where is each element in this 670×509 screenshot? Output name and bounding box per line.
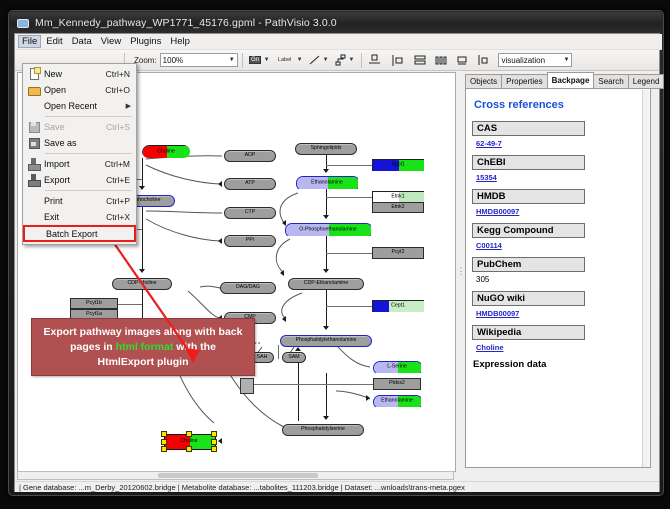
edge-etnk xyxy=(326,197,372,198)
menu-item-exit-label: Exit xyxy=(44,212,106,222)
node-fill-bar xyxy=(142,145,190,158)
node-fill-bar-etnk1 xyxy=(372,191,424,202)
export-icon xyxy=(23,172,44,188)
chevron-down-icon-line[interactable]: ▼ xyxy=(323,57,329,63)
chevron-down-icon-visualization: ▼ xyxy=(564,57,570,63)
stack-button[interactable] xyxy=(413,53,428,68)
node-fill-bar-sgpl1 xyxy=(372,159,424,171)
chevron-down-icon-connector[interactable]: ▼ xyxy=(349,57,355,63)
node-adp[interactable]: ADP xyxy=(224,150,276,162)
menu-item-export-accel: Ctrl+E xyxy=(106,175,130,185)
arrowhead-icon-4 xyxy=(323,169,329,173)
menu-view[interactable]: View xyxy=(97,35,125,48)
arrowhead-icon-choline2 xyxy=(218,438,222,444)
menu-item-save-label: Save xyxy=(44,122,106,132)
node-fill-bar-ope xyxy=(285,223,371,236)
node-gene-pcyt1b[interactable]: Pcyt1b xyxy=(70,298,118,309)
line-tool-icon xyxy=(308,54,321,67)
zoom-label: Zoom: xyxy=(134,56,157,65)
visualization-value: visualization xyxy=(501,56,545,65)
menu-item-new-label: New xyxy=(44,69,106,79)
menu-item-exit[interactable]: Exit Ctrl+X xyxy=(23,209,136,225)
menu-gutter-blank xyxy=(23,98,44,114)
label-tool-label: Label xyxy=(278,57,291,63)
node-phosphatidylserine[interactable]: Phosphatidylserine xyxy=(282,424,364,436)
distribute-button[interactable] xyxy=(434,53,449,68)
node-fill-bar-ser xyxy=(373,361,421,373)
node-gene-etnk1[interactable]: Etnk1 xyxy=(372,191,424,202)
visualization-combobox[interactable]: visualization ▼ xyxy=(498,53,572,67)
menu-item-print[interactable]: Print Ctrl+P xyxy=(23,193,136,209)
menu-separator-3 xyxy=(45,190,132,191)
xref-value-nugo[interactable]: HMDB00097 xyxy=(476,309,644,318)
node-ethanolamine-2[interactable]: Ethanolamine xyxy=(373,395,421,407)
node-sam[interactable]: SAM xyxy=(282,352,306,363)
status-text: | Gene database: ...m_Derby_20120602.bri… xyxy=(19,483,465,492)
open-folder-icon xyxy=(23,82,44,98)
menu-gutter-blank-4 xyxy=(25,226,46,242)
align-left-button[interactable] xyxy=(390,53,405,68)
node-reaction-anchor[interactable] xyxy=(240,378,254,394)
callout-line2-a: pages in xyxy=(70,341,116,353)
align-left-icon xyxy=(391,54,404,67)
edge-ptdss2 xyxy=(250,384,373,385)
edge-pcyt2 xyxy=(326,253,372,254)
xref-header-kegg: Kegg Compound xyxy=(472,223,585,238)
node-choline-selected[interactable]: Choline xyxy=(164,434,214,448)
side-panel-tabs[interactable]: Objects Properties Backpage Search Legen… xyxy=(465,74,657,89)
xref-header-chebi: ChEBI xyxy=(472,155,585,170)
toolbar-separator-3 xyxy=(361,53,362,68)
annotation-callout: Export pathway images along with back pa… xyxy=(31,318,255,376)
node-cdp-choline[interactable]: CDP-choline xyxy=(112,278,172,290)
menu-item-batch-export[interactable]: Batch Export xyxy=(23,225,136,242)
node-gene-sgpl1[interactable]: Sgpl1 xyxy=(372,159,424,171)
distribute-icon xyxy=(435,54,448,67)
pathvisio-icon xyxy=(16,16,29,29)
shape-tool-button[interactable]: Gn xyxy=(248,53,263,68)
callout-highlight: html format xyxy=(116,341,174,353)
import-icon xyxy=(23,156,44,172)
menu-item-open-label: Open xyxy=(44,85,105,95)
cross-references-title: Cross references xyxy=(474,99,644,111)
menu-item-export[interactable]: Export Ctrl+E xyxy=(23,172,136,188)
application-window: Mm_Kennedy_pathway_WP1771_45176.gpml - P… xyxy=(8,10,664,496)
line-tool-button[interactable] xyxy=(307,53,322,68)
node-choline-top[interactable]: Choline xyxy=(142,145,190,158)
menu-item-import[interactable]: Import Ctrl+M xyxy=(23,156,136,172)
backpage-scrollbar[interactable] xyxy=(642,90,649,468)
edge-eth-to-ope xyxy=(326,189,327,217)
node-ethanolamine[interactable]: Ethanolamine xyxy=(296,176,358,189)
xref-header-wikipedia: Wikipedia xyxy=(472,325,585,340)
label-tool-button[interactable]: Label xyxy=(274,53,296,68)
tab-legend[interactable]: Legend xyxy=(628,74,665,89)
arrowhead-icon-8 xyxy=(323,416,329,420)
node-gene-etnk2[interactable]: Etnk2 xyxy=(372,202,424,213)
xref-header-cas: CAS xyxy=(472,121,585,136)
edge-choline-to-phosphocholine xyxy=(142,158,143,188)
xref-value-pubchem: 305 xyxy=(476,275,644,284)
callout-line1: Export pathway images along with back xyxy=(44,326,243,338)
backpage-content: Cross references CAS 62-49-7 ChEBI 15354… xyxy=(465,88,651,468)
menu-item-open-accel: Ctrl+O xyxy=(105,85,130,95)
chevron-down-icon-label[interactable]: ▼ xyxy=(297,57,303,63)
node-o-phosphoethanolamine[interactable]: O-Phosphoethanolamine xyxy=(285,223,371,236)
order-icon xyxy=(477,54,490,67)
chevron-down-icon-shape[interactable]: ▼ xyxy=(264,57,270,63)
menu-item-save-as-label: Save as xyxy=(44,138,130,148)
arrowhead-icon-ppi xyxy=(218,238,222,244)
arrowhead-icon-1 xyxy=(139,186,145,190)
tab-search[interactable]: Search xyxy=(593,74,628,89)
save-disk-icon xyxy=(23,119,44,135)
menu-item-save-as[interactable]: Save as xyxy=(23,135,136,151)
edge-pe-to-ps xyxy=(326,373,327,418)
screenshot-root: Mm_Kennedy_pathway_WP1771_45176.gpml - P… xyxy=(0,0,670,509)
menu-item-new-accel: Ctrl+N xyxy=(106,69,130,79)
node-cdp-ethanolamine[interactable]: CDP-Ethanolamine xyxy=(288,278,364,290)
node-fill-bar-cept1 xyxy=(372,300,424,312)
menu-file[interactable]: File xyxy=(18,35,41,48)
chevron-right-icon: ▶ xyxy=(126,102,131,110)
menu-item-open[interactable]: Open Ctrl+O xyxy=(23,82,136,98)
align-top-icon xyxy=(368,54,381,67)
node-gene-pcyt2[interactable]: Pcyt2 xyxy=(372,247,424,259)
arrowhead-icon-9 xyxy=(295,347,301,351)
node-fill-bar-eth2 xyxy=(373,395,421,407)
node-ctp[interactable]: CTP xyxy=(224,207,276,219)
menu-item-open-recent-label: Open Recent xyxy=(44,101,126,111)
menu-item-save[interactable]: Save Ctrl+S xyxy=(23,119,136,135)
xref-value-chebi[interactable]: 15354 xyxy=(476,173,644,182)
client-area: File Edit Data View Plugins Help Zoom: 1… xyxy=(14,33,660,492)
tab-backpage[interactable]: Backpage xyxy=(547,72,595,89)
callout-line3: HtmlExport plugin xyxy=(98,356,189,368)
save-as-icon xyxy=(23,135,44,151)
scrollbar-thumb[interactable] xyxy=(158,473,318,478)
connector-tool-icon xyxy=(334,54,347,67)
node-sphingolipids[interactable]: Sphingolipids xyxy=(295,143,357,155)
callout-line2-b: with the xyxy=(173,341,216,353)
arrowhead-icon-5 xyxy=(323,215,329,219)
menu-plugins[interactable]: Plugins xyxy=(126,35,165,48)
menu-separator-1 xyxy=(45,116,132,117)
node-l-serine[interactable]: L-Serine xyxy=(373,361,421,373)
node-dag[interactable]: DAG/DAG xyxy=(220,282,276,294)
menu-help[interactable]: Help xyxy=(166,35,194,48)
menu-item-export-label: Export xyxy=(44,175,106,185)
edge-sam-branch xyxy=(278,345,279,359)
edge-ps-to-pe xyxy=(298,353,299,421)
menu-item-import-label: Import xyxy=(44,159,105,169)
menu-item-save-accel: Ctrl+S xyxy=(106,122,130,132)
xref-value-hmdb[interactable]: HMDB00097 xyxy=(476,207,644,216)
menu-item-batch-export-label: Batch Export xyxy=(46,229,134,239)
arrowhead-icon-cdpe xyxy=(280,270,284,276)
group-icon xyxy=(456,54,469,67)
menu-edit[interactable]: Edit xyxy=(42,35,66,48)
arrowhead-icon-6 xyxy=(323,269,329,273)
edge-cdpe-to-pe xyxy=(326,290,327,328)
node-fill-bar-eth xyxy=(296,176,358,189)
zoom-combobox[interactable]: 100% ▼ xyxy=(160,53,238,67)
zoom-value: 100% xyxy=(163,56,183,65)
side-panel: Objects Properties Backpage Search Legen… xyxy=(458,72,657,470)
expression-data-heading: Expression data xyxy=(473,359,644,370)
new-document-icon xyxy=(23,66,44,82)
connector-tool-button[interactable] xyxy=(333,53,348,68)
edge-cept1 xyxy=(326,306,372,307)
arrowhead-icon-etn xyxy=(366,395,370,401)
toolbar-separator-2 xyxy=(242,53,243,68)
tab-objects[interactable]: Objects xyxy=(465,74,502,89)
xref-header-nugo: NuGO wiki xyxy=(472,291,585,306)
menu-data[interactable]: Data xyxy=(68,35,96,48)
menu-item-new[interactable]: New Ctrl+N xyxy=(23,66,136,82)
node-gene-ptdss2[interactable]: Ptdss2 xyxy=(373,378,421,390)
chevron-down-icon: ▼ xyxy=(229,57,235,63)
panel-splitter[interactable] xyxy=(458,72,464,470)
arrowhead-icon-7 xyxy=(323,326,329,330)
arrowhead-icon-cmp2 xyxy=(282,316,286,322)
edge-sgpl1 xyxy=(326,165,372,166)
menu-item-exit-accel: Ctrl+X xyxy=(106,212,130,222)
menu-item-open-recent[interactable]: Open Recent ▶ xyxy=(23,98,136,114)
order-button[interactable] xyxy=(476,53,491,68)
menu-gutter-blank-2 xyxy=(23,193,44,209)
xref-value-cas[interactable]: 62-49-7 xyxy=(476,139,644,148)
xref-value-wikipedia[interactable]: Choline xyxy=(476,343,644,352)
menu-item-print-accel: Ctrl+P xyxy=(106,196,130,206)
arrowhead-icon-atp xyxy=(218,181,222,187)
status-bar: | Gene database: ...m_Derby_20120602.bri… xyxy=(15,481,659,492)
node-gene-cept1[interactable]: Cept1 xyxy=(372,300,424,312)
xref-header-hmdb: HMDB xyxy=(472,189,585,204)
edge-pcyt1 xyxy=(118,304,142,305)
menu-separator-2 xyxy=(45,153,132,154)
node-phosphatidylethanolamine[interactable]: Phosphatidylethanolamine xyxy=(280,335,372,347)
node-atp[interactable]: ATP xyxy=(224,178,276,190)
tab-properties[interactable]: Properties xyxy=(501,74,547,89)
title-bar: Mm_Kennedy_pathway_WP1771_45176.gpml - P… xyxy=(10,12,662,33)
group-button[interactable] xyxy=(455,53,470,68)
align-top-button[interactable] xyxy=(367,53,382,68)
xref-value-kegg[interactable]: C00114 xyxy=(476,241,644,250)
shape-tool-icon: Gn xyxy=(249,56,261,64)
menu-item-import-accel: Ctrl+M xyxy=(105,159,130,169)
menu-item-print-label: Print xyxy=(44,196,106,206)
arrowhead-icon-2 xyxy=(139,269,145,273)
node-ppi[interactable]: PPi xyxy=(224,235,276,247)
file-menu-dropdown[interactable]: New Ctrl+N Open Ctrl+O Open Recent ▶ Sav… xyxy=(22,63,137,245)
window-title: Mm_Kennedy_pathway_WP1771_45176.gpml - P… xyxy=(35,17,337,29)
xref-header-pubchem: PubChem xyxy=(472,257,585,272)
menu-gutter-blank-3 xyxy=(23,209,44,225)
stack-icon xyxy=(414,54,427,67)
canvas-horizontal-scrollbar[interactable] xyxy=(17,471,454,480)
menu-bar[interactable]: File Edit Data View Plugins Help xyxy=(15,34,662,50)
edge-phosphocholine-to-cdpcholine xyxy=(142,207,143,271)
